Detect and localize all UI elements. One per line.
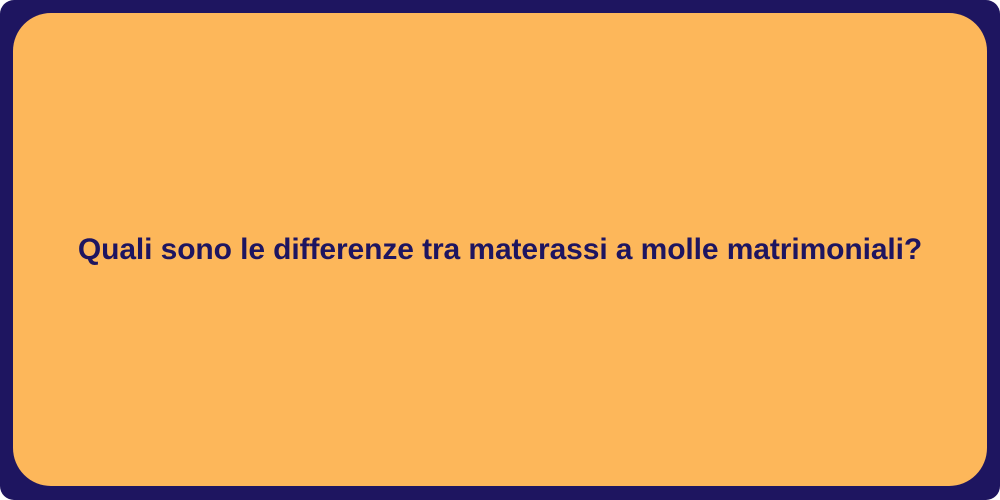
question-card: Quali sono le differenze tra materassi a… bbox=[13, 13, 987, 486]
card-frame: Quali sono le differenze tra materassi a… bbox=[0, 0, 1000, 500]
page-title: Quali sono le differenze tra materassi a… bbox=[13, 231, 987, 269]
